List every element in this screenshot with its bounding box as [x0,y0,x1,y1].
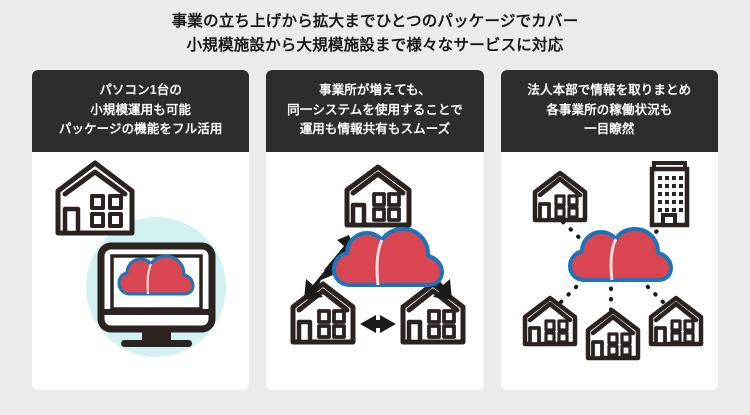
card-header: 事業所が増えても、 同一システムを使用することで 運用も情報共有もスムーズ [266,70,483,152]
card-multi-office: 事業所が増えても、 同一システムを使用することで 運用も情報共有もスムーズ [266,70,483,390]
card-header-line-3: 運用も情報共有もスムーズ [272,120,477,140]
cloud-icon [334,229,442,285]
card-header: 法人本部で情報を取りまとめ 各事業所の稼働状況も 一目瞭然 [501,70,718,152]
card-header-line-3: 一目瞭然 [507,120,712,140]
house-with-monitor-cloud-illustration [32,152,249,382]
house-icon [293,284,353,342]
house-icon [535,173,585,220]
double-arrow-icon [360,315,396,333]
house-icon [525,298,575,344]
card-header-line-2: 小規模運用も可能 [38,101,243,121]
house-icon [58,163,132,233]
card-header-line-2: 同一システムを使用することで [272,101,477,121]
office-building-icon [652,163,687,225]
house-icon [347,167,409,225]
card-header-line-1: 事業所が増えても、 [272,81,477,101]
monitor-icon [101,246,212,347]
card-header-line-1: パソコン1台の [38,81,243,101]
house-icon [403,284,463,342]
heading-line-1: 事業の立ち上げから拡大までひとつのパッケージでカバー [0,10,750,34]
card-header-line-3: パッケージの機能をフル活用 [38,120,243,140]
cloud-icon [570,229,671,280]
card-illustration-area [266,152,483,391]
card-header-line-2: 各事業所の稼働状況も [507,101,712,121]
card-pc-single: パソコン1台の 小規模運用も可能 パッケージの機能をフル活用 [32,70,249,390]
three-houses-cloud-arrows-illustration [266,152,483,382]
card-headquarters: 法人本部で情報を取りまとめ 各事業所の稼働状況も 一目瞭然 [501,70,718,390]
card-illustration-area [501,152,718,391]
card-list: パソコン1台の 小規模運用も可能 パッケージの機能をフル活用 [32,70,718,390]
heading-line-2: 小規模施設から大規模施設まで様々なサービスに対応 [0,34,750,58]
card-header-line-1: 法人本部で情報を取りまとめ [507,81,712,101]
page-heading: 事業の立ち上げから拡大までひとつのパッケージでカバー 小規模施設から大規模施設ま… [0,10,750,58]
card-header: パソコン1台の 小規模運用も可能 パッケージの機能をフル活用 [32,70,249,152]
house-icon [651,298,701,344]
cloud-hub-with-buildings-illustration [501,152,718,382]
card-illustration-area [32,152,249,391]
house-icon [588,311,638,358]
